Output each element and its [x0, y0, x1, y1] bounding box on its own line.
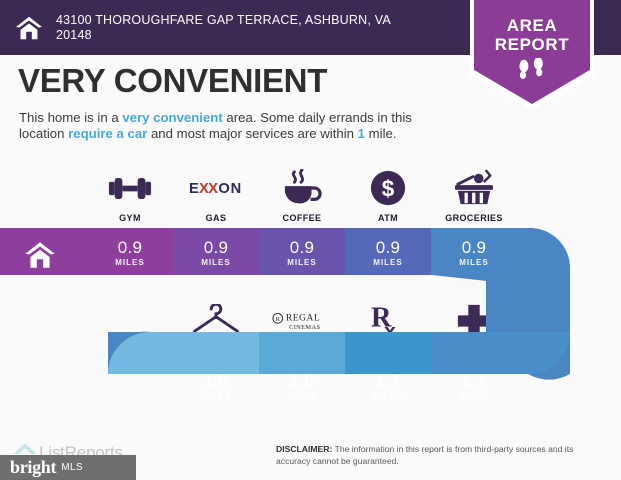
category-gym: GYM [87, 168, 173, 223]
desc-highlight-2: require a car [68, 126, 147, 141]
dollar-coin-icon: $ [345, 168, 431, 208]
row2-segment-cleaners [173, 332, 259, 374]
distance-cell: 1.8 MILES [173, 371, 259, 400]
distance-cell: 0.9 MILES [431, 238, 517, 267]
desc-highlight-1: very convenient [122, 110, 222, 125]
distance-value: 0.9 [259, 238, 345, 257]
area-report-infographic: 43100 THOROUGHFARE GAP TERRACE, ASHBURN,… [0, 0, 621, 480]
distance-value: 0.9 [431, 238, 517, 257]
desc-text-3: and most major services are within [147, 126, 357, 141]
svg-text:$: $ [382, 176, 395, 202]
basket-icon [431, 168, 517, 208]
row2-segment-medical [431, 332, 528, 374]
category-label: GYM [87, 213, 173, 223]
home-marker-icon [23, 238, 57, 272]
svg-text:O: O [218, 181, 229, 197]
desc-highlight-3: 1 [358, 126, 365, 141]
category-label: GROCERIES [431, 213, 517, 223]
disclaimer-label: DISCLAIMER: [276, 444, 332, 454]
area-report-badge: AREA REPORT [470, 0, 594, 110]
category-label: GAS [173, 213, 259, 223]
distance-unit: MILES [173, 258, 259, 267]
distance-value: 0.9 [87, 238, 173, 257]
badge-line-2: REPORT [474, 35, 590, 54]
distance-unit: MILES [173, 391, 259, 400]
property-address: 43100 THOROUGHFARE GAP TERRACE, ASHBURN,… [56, 13, 411, 43]
distance-value: 0.9 [173, 238, 259, 257]
footprints-icon [474, 58, 590, 90]
row2-segment-movie [259, 332, 345, 374]
summary-description: This home is in a very convenient area. … [19, 110, 439, 142]
category-gas: E X X O N GAS [173, 168, 259, 223]
page-title: VERY CONVENIENT [18, 62, 327, 100]
distance-cell: 0.9 MILES [345, 238, 431, 267]
category-groceries: GROCERIES [431, 168, 517, 223]
category-label: ATM [345, 213, 431, 223]
category-atm: $ ATM [345, 168, 431, 223]
home-icon [14, 13, 44, 43]
bright-mls-suffix: MLS [61, 462, 83, 473]
desc-text-1: This home is in a [19, 110, 122, 125]
distance-unit: MILES [259, 391, 345, 400]
distance-unit: MILES [345, 258, 431, 267]
svg-text:N: N [231, 181, 242, 197]
distance-value: 1.7 [345, 371, 431, 390]
distance-cell: 1.8 MILES [259, 371, 345, 400]
distance-unit: MILES [259, 258, 345, 267]
distance-value: 0.9 [345, 238, 431, 257]
distance-cell: 0.9 MILES [173, 238, 259, 267]
distance-value: 1.8 [259, 371, 345, 390]
category-row-1: GYM E X X O N GAS [87, 168, 517, 223]
disclaimer: DISCLAIMER: The information in this repo… [276, 444, 606, 467]
distance-value: 1.8 [173, 371, 259, 390]
svg-text:E: E [189, 181, 199, 197]
badge-line-1: AREA [474, 16, 590, 35]
distance-cell: 1.7 MILES [345, 371, 431, 400]
bright-mls-brand: bright [10, 457, 56, 478]
bright-mls-watermark: bright MLS [0, 455, 136, 480]
distance-labels-row-2: 1.8 MILES 1.8 MILES 1.7 MILES 1.1 MILES [173, 371, 517, 400]
row2-segment-pharmacy [345, 332, 431, 374]
distance-cell: 1.1 MILES [431, 371, 517, 400]
distance-unit: MILES [87, 258, 173, 267]
distance-cell: 0.9 MILES [87, 238, 173, 267]
category-coffee: COFFEE [259, 168, 345, 223]
distance-unit: MILES [431, 391, 517, 400]
distance-labels-row-1: 0.9 MILES 0.9 MILES 0.9 MILES 0.9 MILES … [87, 238, 517, 267]
svg-text:X: X [208, 181, 218, 197]
distance-unit: MILES [345, 391, 431, 400]
distance-cell: 0.9 MILES [259, 238, 345, 267]
exxon-logo: E X X O N [173, 168, 259, 208]
dumbbell-icon [87, 168, 173, 208]
distance-value: 1.1 [431, 371, 517, 390]
category-label: COFFEE [259, 213, 345, 223]
desc-text-4: mile. [365, 126, 397, 141]
distance-unit: MILES [431, 258, 517, 267]
coffee-cup-icon [259, 168, 345, 208]
